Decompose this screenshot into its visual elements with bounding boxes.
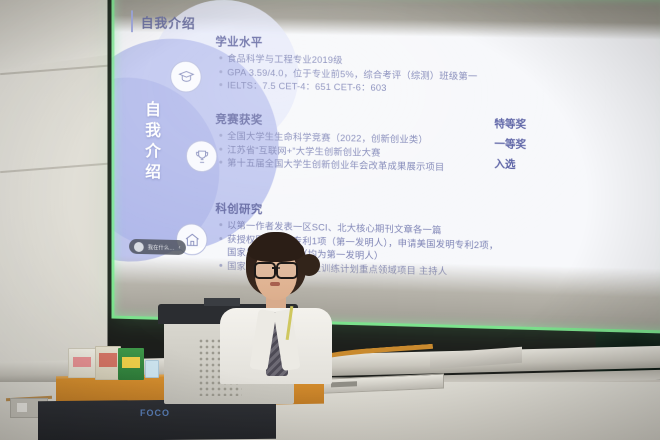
classroom-scene: 自我介绍 自我介绍 学业水平 食品科学与工程专业2019级 GPA 3.59/4…: [0, 0, 660, 440]
section-academic: 学业水平 食品科学与工程专业2019级 GPA 3.59/4.0，位于专业前5%…: [215, 33, 477, 97]
bullet-dot: [219, 56, 222, 59]
section-heading: 竞赛获奖: [215, 111, 444, 131]
product-box: [68, 348, 96, 378]
meeting-toolbar-label: 我在什么…: [148, 243, 175, 252]
bullet-dot: [219, 161, 222, 164]
chevron-left-icon[interactable]: ‹: [179, 244, 181, 250]
bullet-text: IELTS：7.5 CET-4：651 CET-6：603: [227, 80, 386, 93]
award-label: 一等奖: [494, 134, 526, 155]
bullet-text: 第十五届全国大学生创新创业年会改革成果展示项目: [227, 158, 444, 172]
hair-fringe: [248, 238, 304, 262]
section-bullets: 全国大学生生命科学竞赛（2022，创新创业类） 江苏省“互联网+”大学生创新创业…: [215, 130, 444, 175]
section-competitions: 竞赛获奖 全国大学生生命科学竞赛（2022，创新创业类） 江苏省“互联网+”大学…: [215, 111, 444, 175]
section-heading: 学业水平: [215, 33, 477, 53]
small-bottle: [145, 360, 159, 378]
bullet-dot: [219, 147, 222, 150]
glasses-icon: [254, 262, 298, 275]
award-label: 入选: [494, 154, 526, 175]
projection-screen: 自我介绍 自我介绍 学业水平 食品科学与工程专业2019级 GPA 3.59/4…: [111, 0, 660, 334]
bullet-dot: [219, 83, 222, 86]
section-bullets: 食品科学与工程专业2019级 GPA 3.59/4.0，位于专业前5%，综合考评…: [215, 52, 477, 97]
bullet-dot: [219, 134, 222, 137]
bullet-text: 全国大学生生命科学竞赛（2022，创新创业类）: [227, 131, 428, 145]
lectern-logo: FOCO: [140, 408, 170, 418]
side-vertical-label: 自我介绍: [139, 100, 168, 184]
lectern-body: [38, 399, 276, 440]
slide-title: 自我介绍: [141, 13, 196, 33]
bullet-dot: [219, 223, 222, 226]
bullet-text: 江苏省“互联网+”大学生创新创业大赛: [227, 144, 380, 157]
award-labels: 特等奖 一等奖 入选: [494, 114, 526, 175]
mouth: [270, 282, 280, 286]
meeting-toolbar[interactable]: 我在什么… ‹: [129, 239, 185, 255]
avatar: [134, 241, 144, 251]
product-box: [118, 348, 144, 380]
presentation-slide: 自我介绍 自我介绍 学业水平 食品科学与工程专业2019级 GPA 3.59/4…: [125, 16, 655, 282]
bullet-text: GPA 3.59/4.0，位于专业前5%，综合考评（综测）班级第一: [227, 67, 477, 81]
presenter: [214, 232, 338, 384]
trophy-icon: [186, 140, 217, 172]
bullet-text: 食品科学与工程专业2019级: [227, 53, 342, 65]
hair-bun: [298, 254, 320, 276]
title-accent-bar: [131, 10, 133, 32]
award-label: 特等奖: [494, 114, 526, 135]
graduation-cap-icon: [170, 60, 201, 92]
bullet-dot: [219, 70, 222, 73]
